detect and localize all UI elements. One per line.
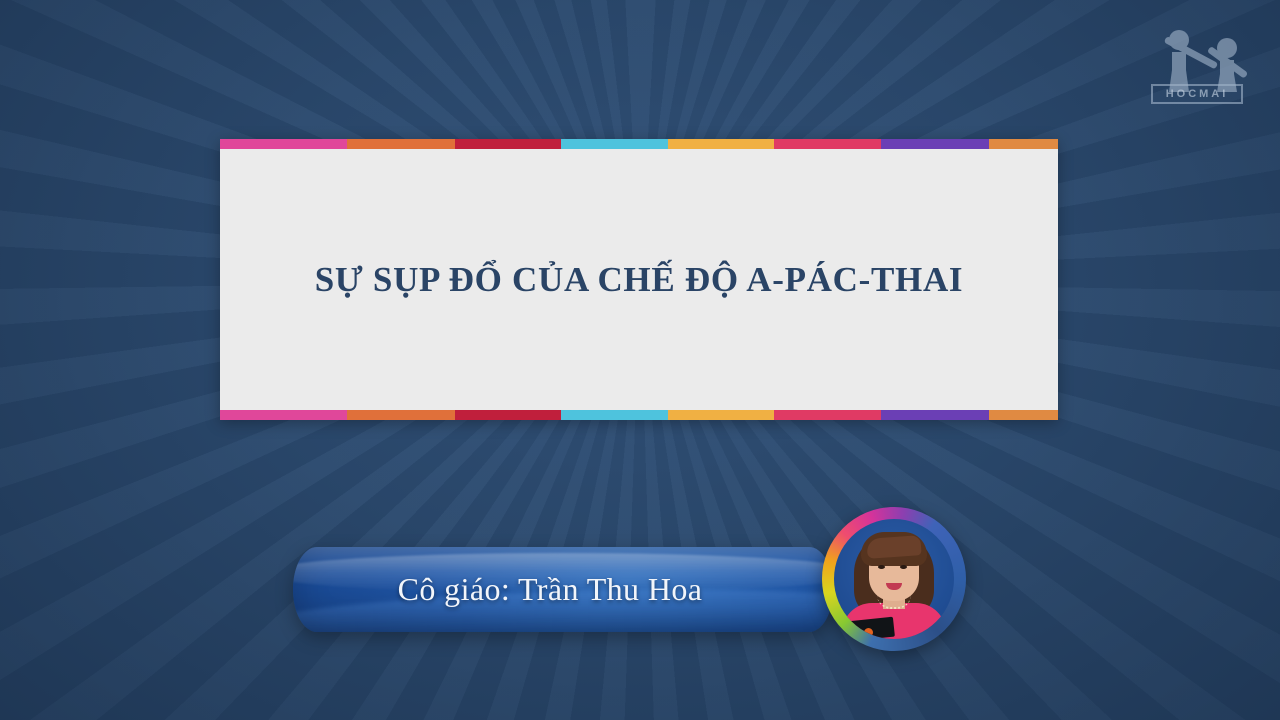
stripe-segment-7 xyxy=(989,410,1058,420)
stripe-segment-7 xyxy=(989,139,1058,149)
stripe-segment-6 xyxy=(881,139,989,149)
stripe-segment-6 xyxy=(881,410,989,420)
stripe-segment-1 xyxy=(347,410,455,420)
presentation-slide: HOCMAI SỰ SỤP ĐỔ CỦA CHẾ ĐỘ A-PÁC-THAI C… xyxy=(0,0,1280,720)
avatar-fringe xyxy=(866,535,921,559)
avatar-book-emblem xyxy=(864,628,873,637)
stripe-bar-top xyxy=(220,139,1058,149)
slide-title: SỰ SỤP ĐỔ CỦA CHẾ ĐỘ A-PÁC-THAI xyxy=(315,259,964,301)
avatar-eye-right xyxy=(900,565,907,569)
stripe-segment-0 xyxy=(220,410,347,420)
hocmai-wordmark: HOCMAI xyxy=(1151,84,1243,104)
stripe-segment-5 xyxy=(774,139,881,149)
presenter-name: Cô giáo: Trần Thu Hoa xyxy=(293,547,833,632)
stripe-segment-3 xyxy=(561,139,668,149)
presenter-banner: Cô giáo: Trần Thu Hoa xyxy=(293,547,833,632)
hocmai-wordmark-text: HOCMAI xyxy=(1166,88,1229,100)
stripe-segment-4 xyxy=(668,139,774,149)
stripe-segment-5 xyxy=(774,410,881,420)
stripe-bar-bottom xyxy=(220,410,1058,420)
stripe-segment-0 xyxy=(220,139,347,149)
stripe-segment-4 xyxy=(668,410,774,420)
title-card-body: SỰ SỤP ĐỔ CỦA CHẾ ĐỘ A-PÁC-THAI xyxy=(220,149,1058,410)
avatar-photo xyxy=(834,519,954,639)
stripe-segment-2 xyxy=(455,410,561,420)
presenter-avatar xyxy=(822,507,966,651)
title-card: SỰ SỤP ĐỔ CỦA CHẾ ĐỘ A-PÁC-THAI xyxy=(220,139,1058,420)
avatar-eye-left xyxy=(878,565,885,569)
stripe-segment-2 xyxy=(455,139,561,149)
stripe-segment-1 xyxy=(347,139,455,149)
stripe-segment-3 xyxy=(561,410,668,420)
